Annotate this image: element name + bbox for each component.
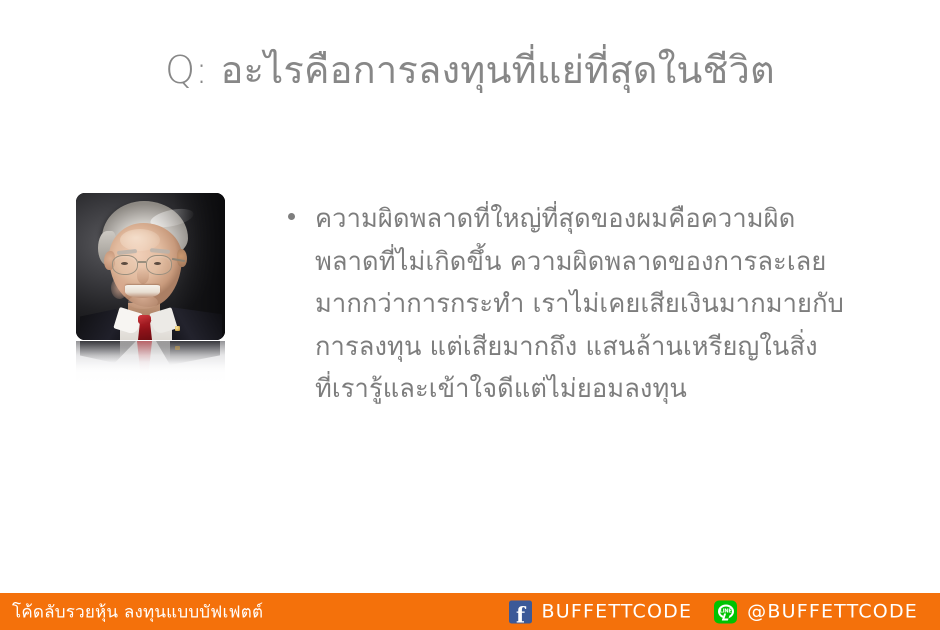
line-icon[interactable]: LINE (714, 600, 737, 623)
page-title: Q: อะไรคือการลงทุนที่แย่ที่สุดในชีวิต (0, 44, 940, 96)
portrait-photo (76, 193, 225, 340)
quote-line: ที่เรารู้และเข้าใจดีแต่ไม่ยอมลงทุน (315, 368, 908, 411)
line-link[interactable]: LINE @BUFFETTCODE (714, 600, 918, 623)
eyeglass-bridge (138, 261, 146, 263)
necktie-knot (138, 315, 151, 324)
lapel-pin (175, 326, 180, 331)
bullet-dot-icon (288, 213, 295, 220)
line-icon-label: LINE (720, 609, 732, 614)
facebook-handle[interactable]: BUFFETTCODE (542, 601, 693, 623)
quote-block: ความผิดพลาดที่ใหญ่ที่สุดของผมคือความผิด … (283, 198, 908, 411)
quote-line: พลาดที่ไม่เกิดขึ้น ความผิดพลาดของการละเล… (315, 241, 908, 284)
smiling-mouth (125, 285, 160, 298)
quote-line: มากกว่าการกระทำ เราไม่เคยเสียเงินมากมายก… (315, 283, 908, 326)
portrait-image-container (76, 193, 225, 389)
footer-social-links: BUFFETTCODE LINE @BUFFETTCODE (509, 600, 918, 623)
portrait-reflection (76, 341, 225, 389)
footer-brand-text: โค้ดลับรวยหุ้น ลงทุนแบบบัฟเฟตต์ (12, 598, 263, 625)
presentation-slide: Q: อะไรคือการลงทุนที่แย่ที่สุดในชีวิต (0, 0, 940, 630)
facebook-icon[interactable] (509, 600, 532, 623)
facebook-link[interactable]: BUFFETTCODE (509, 600, 693, 623)
line-speech-bubble: LINE (718, 605, 734, 619)
bullet-list-item: ความผิดพลาดที่ใหญ่ที่สุดของผมคือความผิด … (283, 198, 908, 411)
quote-line: การลงทุน แต่เสียมากถึง แสนล้านเหรียญในสิ… (315, 326, 908, 369)
line-handle[interactable]: @BUFFETTCODE (747, 601, 918, 623)
footer-bar: โค้ดลับรวยหุ้น ลงทุนแบบบัฟเฟตต์ BUFFETTC… (0, 593, 940, 630)
eyeglass-lens-left (112, 255, 138, 275)
reflection-fade-overlay (76, 341, 225, 389)
quote-line: ความผิดพลาดที่ใหญ่ที่สุดของผมคือความผิด (315, 198, 908, 241)
eyeglass-lens-right (146, 255, 172, 275)
quote-text: ความผิดพลาดที่ใหญ่ที่สุดของผมคือความผิด … (315, 198, 908, 411)
